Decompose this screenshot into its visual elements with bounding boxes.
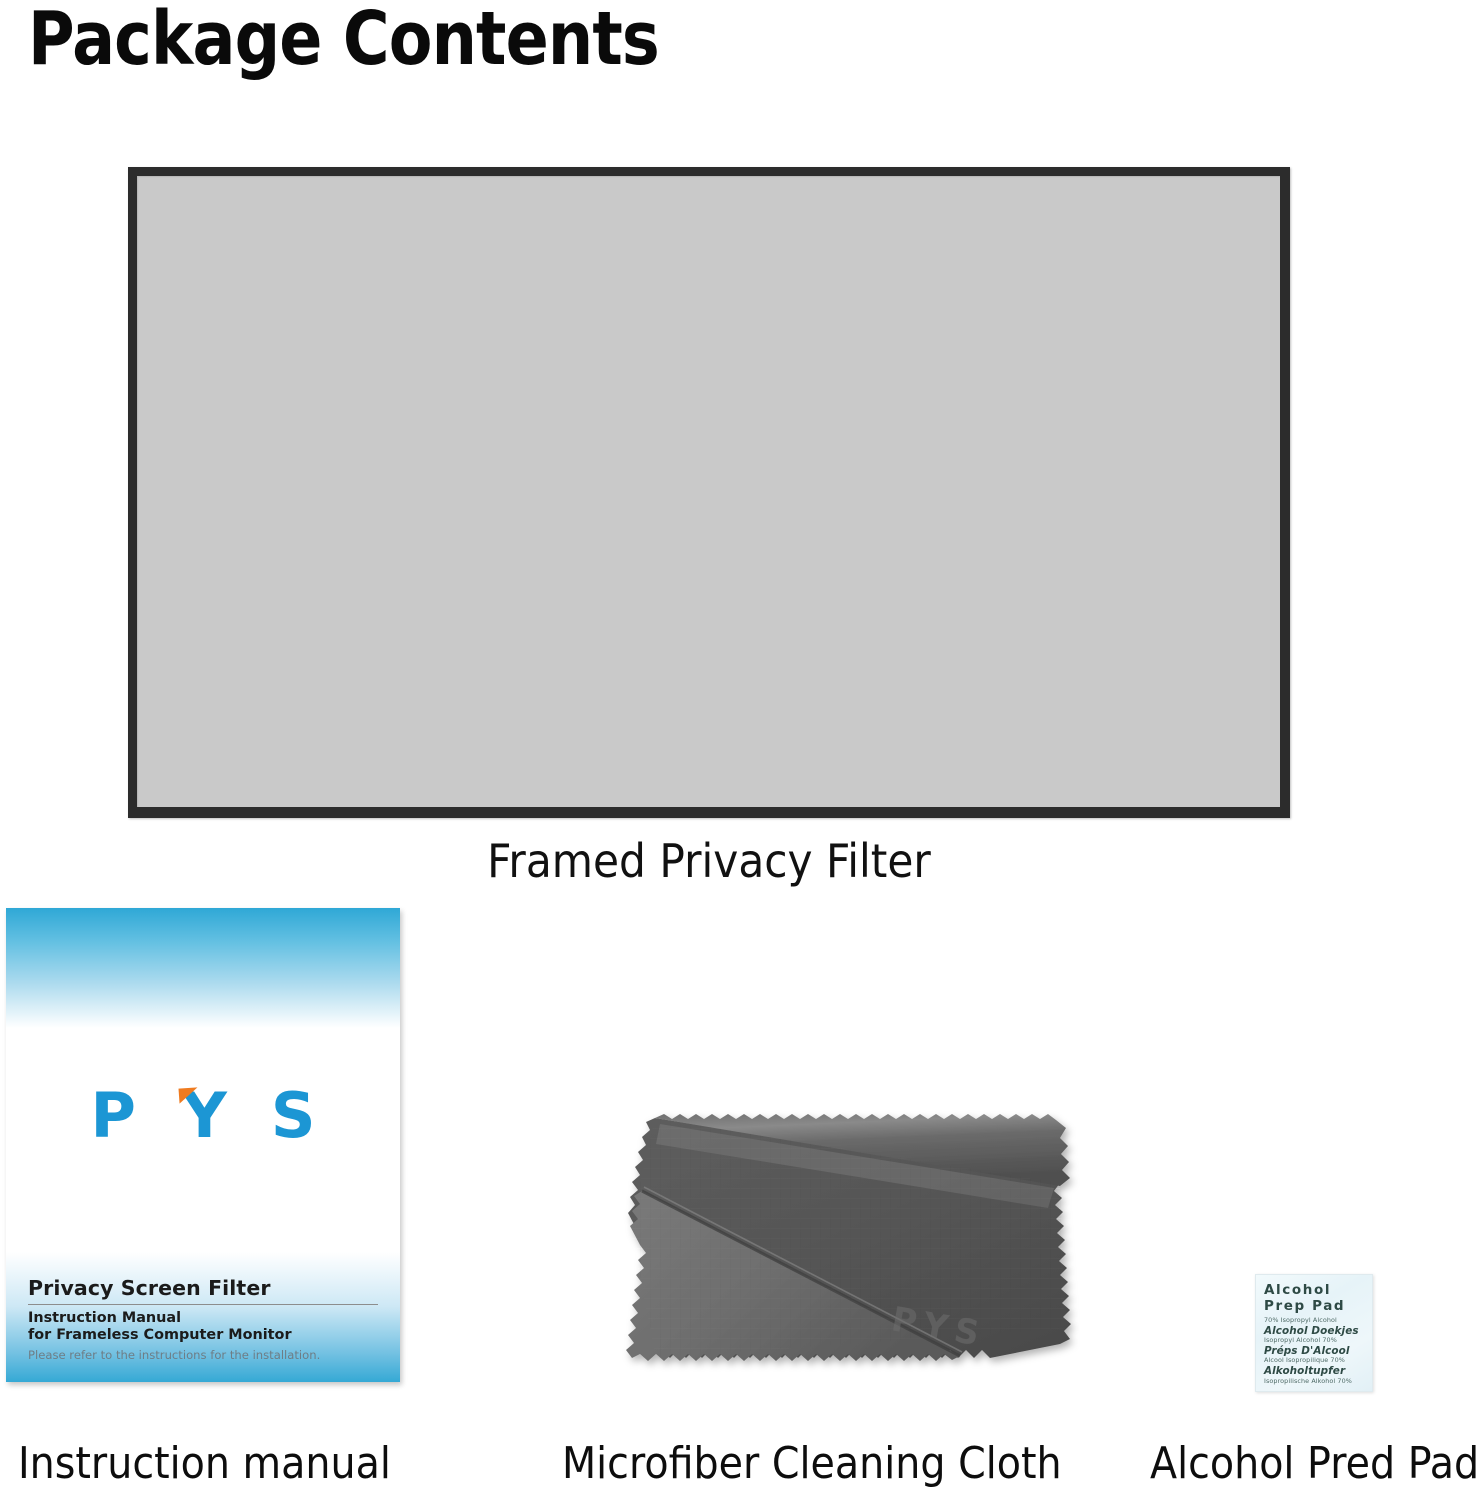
- pad-line-fr-small: Alcool Isopropilique 70%: [1264, 1357, 1366, 1365]
- framed-privacy-filter-image: [128, 167, 1290, 818]
- pys-logo: P Y S: [6, 1076, 400, 1156]
- pad-title-line2: Prep Pad: [1264, 1299, 1366, 1315]
- alcohol-prep-pad-image: Alcohol Prep Pad 70% Isopropyl Alcohol A…: [1255, 1274, 1373, 1392]
- pad-line-de-small: Isopropilische Alkohol 70%: [1264, 1378, 1366, 1386]
- pad-line-de: Alkoholtupfer: [1264, 1365, 1366, 1377]
- privacy-filter-screen-surface: [137, 176, 1280, 807]
- manual-cover-top-gradient: [6, 908, 400, 1028]
- pad-title-block: Alcohol Prep Pad: [1264, 1283, 1366, 1314]
- manual-cover-heading: Privacy Screen Filter: [28, 1276, 378, 1305]
- pad-line-nl-small: Isopropyl Alcohol 70%: [1264, 1337, 1366, 1345]
- cloth-illustration: PYS: [560, 1058, 1080, 1398]
- pad-title-line1: Alcohol: [1264, 1283, 1366, 1299]
- manual-cover-text-block: Privacy Screen Filter Instruction Manual…: [28, 1276, 378, 1362]
- instruction-manual-caption: Instruction manual: [18, 1438, 391, 1489]
- pad-line-en-small: 70% Isopropyl Alcohol: [1264, 1317, 1366, 1325]
- manual-cover-note: Please refer to the instructions for the…: [28, 1348, 378, 1362]
- page-title: Package Contents: [28, 0, 659, 82]
- pys-logo-letter-y: Y: [182, 1085, 227, 1147]
- pys-logo-letter-p: P: [90, 1085, 135, 1147]
- microfiber-cleaning-cloth-image: PYS: [560, 1058, 1080, 1398]
- manual-cover-subtitle-line1: Instruction Manual: [28, 1310, 378, 1326]
- alcohol-prep-pad-caption: Alcohol Pred Pad: [1150, 1438, 1479, 1489]
- manual-cover-subtitle-line2: for Frameless Computer Monitor: [28, 1327, 378, 1343]
- pys-logo-letter-s: S: [271, 1085, 316, 1147]
- pys-logo-orange-accent-icon: [178, 1087, 198, 1103]
- framed-privacy-filter-caption: Framed Privacy Filter: [174, 834, 1243, 888]
- instruction-manual-image: P Y S Privacy Screen Filter Instruction …: [6, 908, 400, 1382]
- microfiber-cleaning-cloth-caption: Microfiber Cleaning Cloth: [562, 1438, 1062, 1489]
